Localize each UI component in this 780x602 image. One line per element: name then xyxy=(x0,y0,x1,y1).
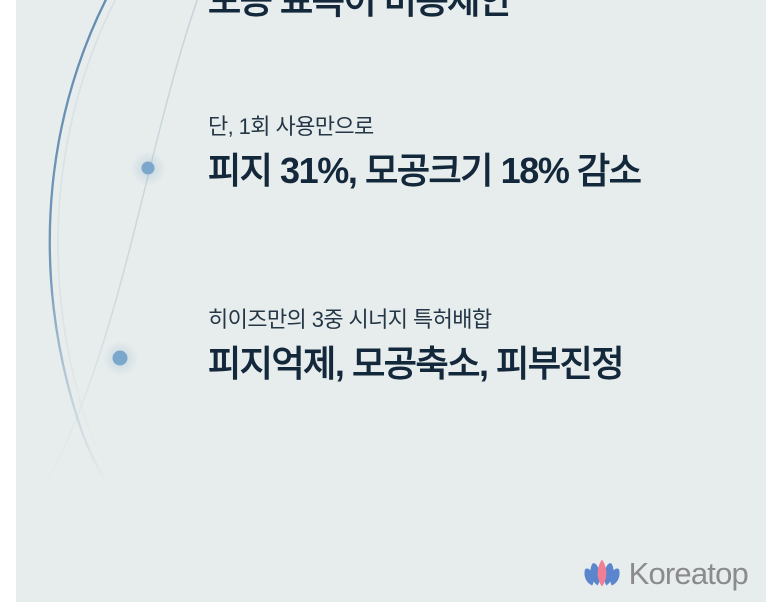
infographic-canvas: 모공 표독이 미용제안 단, 1회 사용만으로 피지 31%, 모공크기 18%… xyxy=(0,0,780,602)
arc-main-blue-path xyxy=(50,0,136,522)
content-panel: 모공 표독이 미용제안 단, 1회 사용만으로 피지 31%, 모공크기 18%… xyxy=(16,0,766,602)
content-block-top: 모공 표독이 미용제안 xyxy=(208,0,511,24)
content-block-results: 단, 1회 사용만으로 피지 31%, 모공크기 18% 감소 xyxy=(208,112,640,194)
headline-results: 피지 31%, 모공크기 18% 감소 xyxy=(208,148,640,194)
arc-outer-faint-path xyxy=(58,0,144,518)
content-block-formula: 히이즈만의 3중 시너지 특허배합 피지억제, 모공축소, 피부진정 xyxy=(208,305,623,387)
orbit-dot-lower xyxy=(113,351,128,366)
headline-top: 모공 표독이 미용제안 xyxy=(208,0,511,24)
brand-logo: Koreatop xyxy=(582,556,748,590)
eyebrow-formula: 히이즈만의 3중 시너지 특허배합 xyxy=(208,305,623,335)
lotus-flower-icon xyxy=(582,556,622,590)
orbit-decoration xyxy=(16,0,766,602)
brand-name: Koreatop xyxy=(629,558,748,589)
orbit-dot-upper xyxy=(142,162,155,175)
eyebrow-results: 단, 1회 사용만으로 xyxy=(208,112,640,142)
headline-formula: 피지억제, 모공축소, 피부진정 xyxy=(208,341,623,387)
arc-inner-soft-path xyxy=(20,0,212,516)
